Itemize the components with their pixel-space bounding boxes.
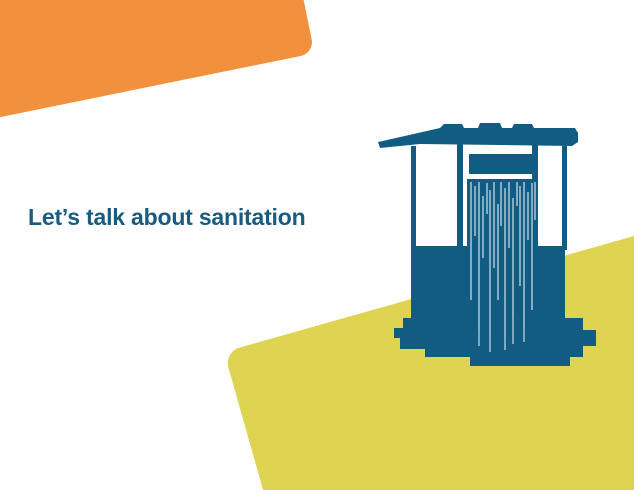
right-post xyxy=(562,146,567,250)
slide-canvas: Let’s talk about sanitation xyxy=(0,0,634,490)
door-header-panel xyxy=(469,154,535,174)
left-post xyxy=(411,146,416,250)
left-wall-panel xyxy=(411,246,463,330)
latrine-illustration xyxy=(0,0,634,490)
inner-left-post xyxy=(457,143,463,251)
roof xyxy=(378,123,578,148)
curtain xyxy=(467,179,537,338)
slide-title: Let’s talk about sanitation xyxy=(28,204,428,232)
